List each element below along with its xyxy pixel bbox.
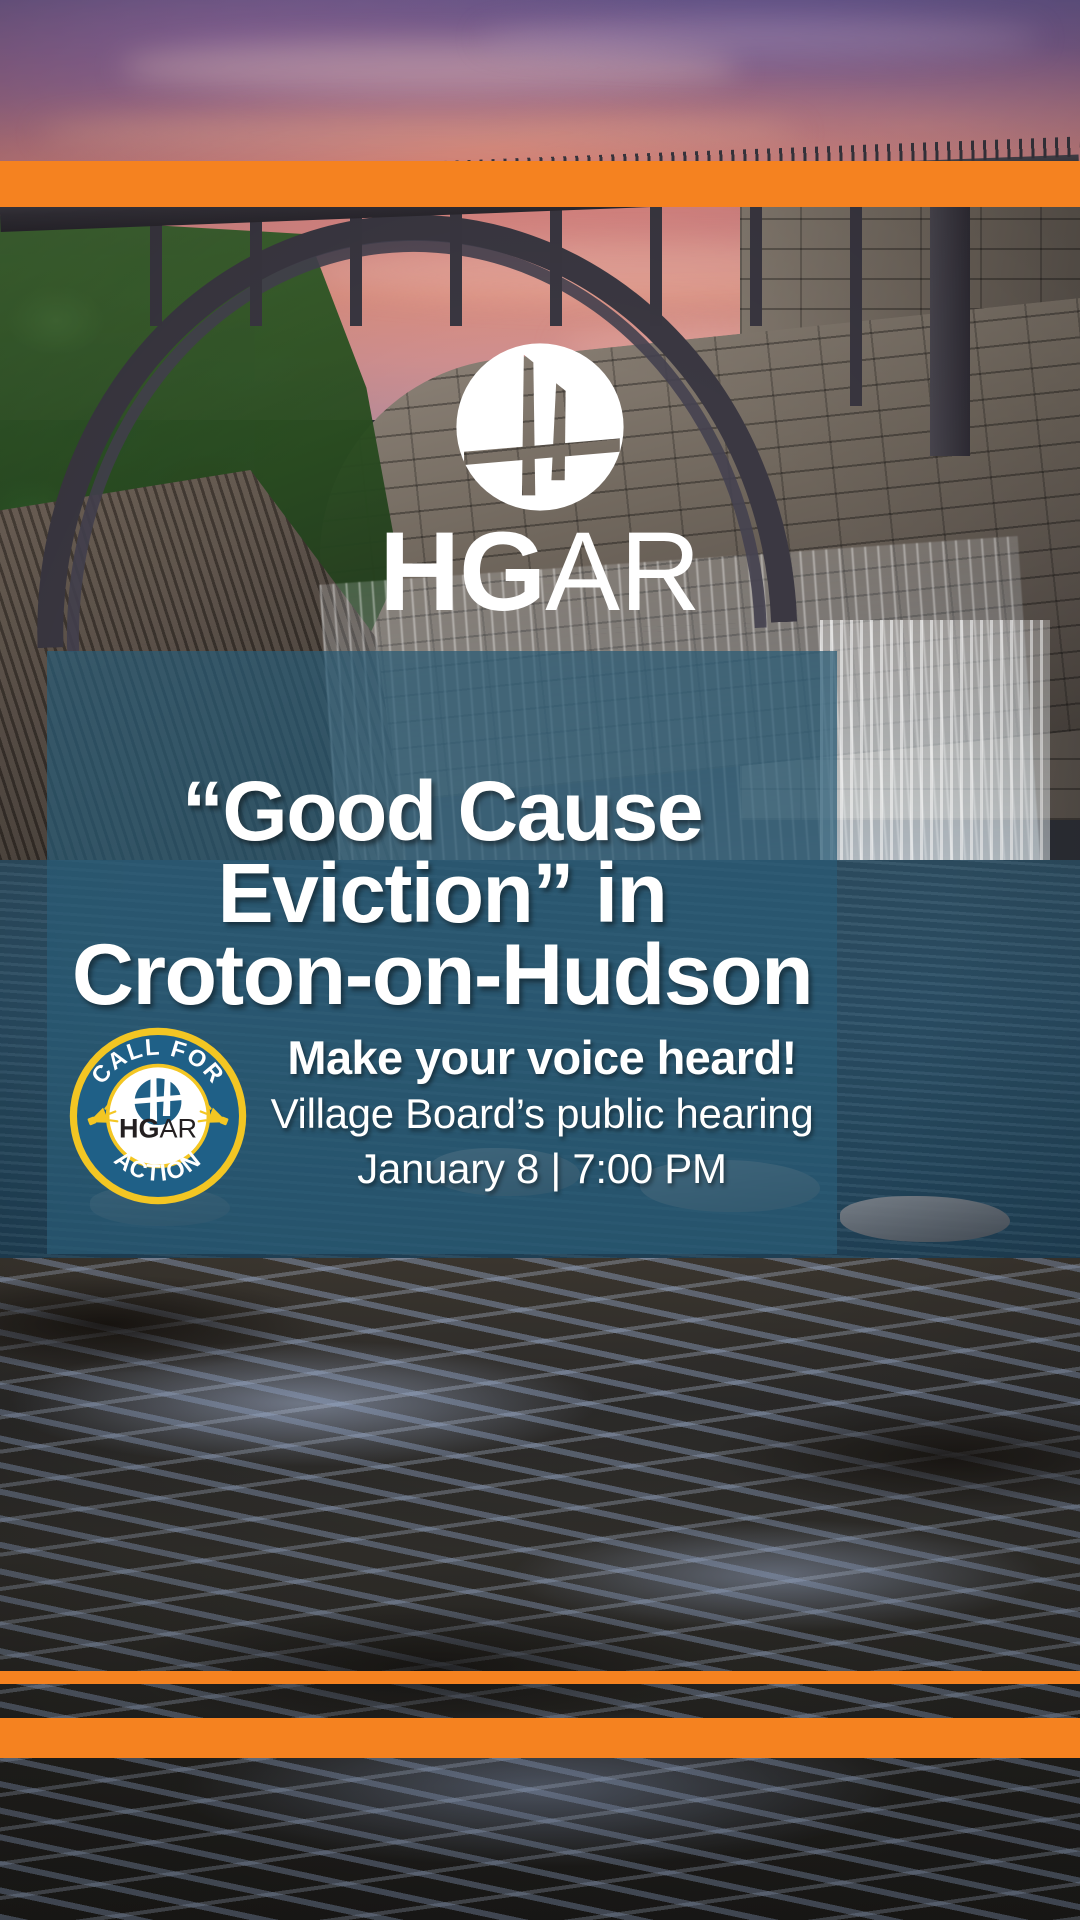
poster-canvas: HGAR “Good Cause Eviction” in Croton-on-… (0, 0, 1080, 1920)
badge-center-hg: HG (119, 1114, 160, 1144)
cta-detail-line-1: Village Board’s public hearing (262, 1089, 822, 1139)
call-for-action-badge: HGAR CALL FOR ACTION (68, 1026, 248, 1206)
call-to-action-text: Make your voice heard! Village Board’s p… (262, 1033, 822, 1194)
cta-detail-line-2: January 8 | 7:00 PM (262, 1144, 822, 1194)
hgar-wordmark-ar: AR (545, 509, 701, 634)
headline-lines-1-2: “Good Cause Eviction” in (182, 764, 702, 939)
bottom-thin-accent-bar (0, 1671, 1080, 1684)
bottom-accent-bar (0, 1718, 1080, 1758)
headline-line-3: Croton-on-Hudson (47, 934, 837, 1017)
top-accent-bar (0, 161, 1080, 207)
badge-center-text: HGAR (119, 1114, 197, 1144)
hgar-wordmark: HGAR (280, 516, 800, 628)
hgar-wordmark-hg: HG (379, 509, 545, 634)
hgar-bridge-mark-icon (445, 332, 635, 522)
hgar-logo: HGAR (280, 332, 800, 628)
cta-heading: Make your voice heard! (262, 1033, 822, 1083)
badge-center-ar: AR (159, 1114, 197, 1144)
